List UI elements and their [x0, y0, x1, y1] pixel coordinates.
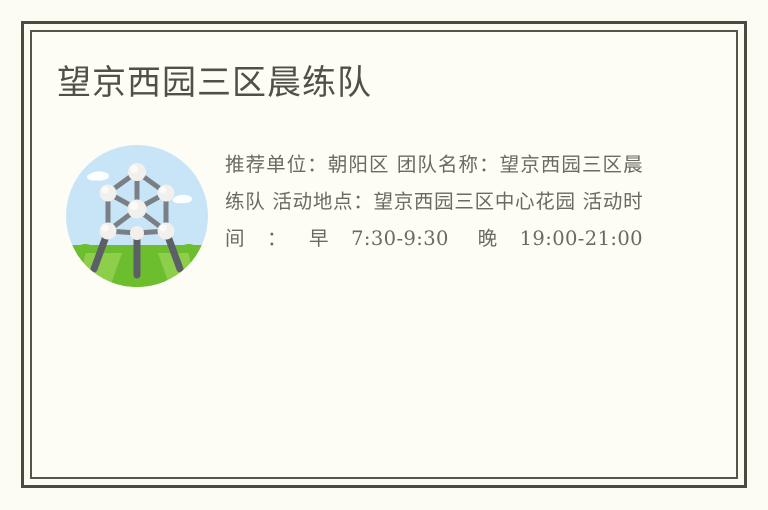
team-info-text: 推荐单位：朝阳区 团队名称：望京西园三区晨练队 活动地点：望京西园三区中心花园 …: [225, 146, 643, 257]
team-profile-card: 望京西园三区晨练队: [0, 0, 768, 510]
team-info-block: 推荐单位：朝阳区 团队名称：望京西园三区晨练队 活动地点：望京西园三区中心花园 …: [225, 146, 643, 257]
card-content: 望京西园三区晨练队: [30, 30, 738, 479]
team-badge: [66, 145, 208, 287]
page-title: 望京西园三区晨练队: [57, 61, 372, 105]
atomium-landmark-icon: [66, 145, 208, 287]
